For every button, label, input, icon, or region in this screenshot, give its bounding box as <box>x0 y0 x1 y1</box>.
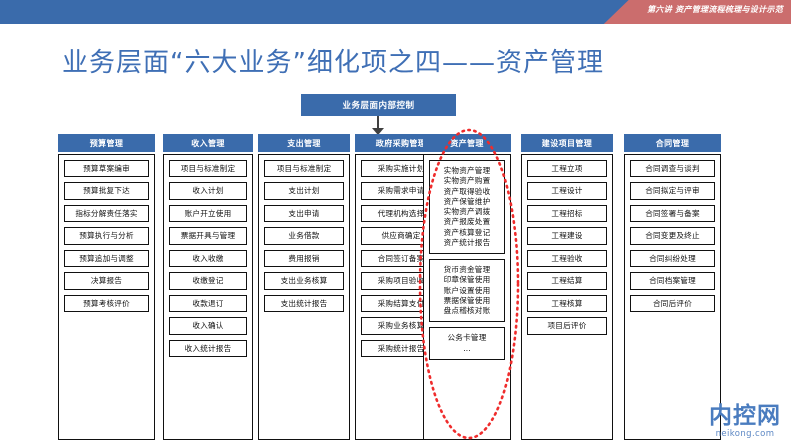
slide-canvas: 第六讲 资产管理流程梳理与设计示范 业务层面“六大业务”细化项之四——资产管理 … <box>0 0 791 445</box>
process-cell[interactable]: 支出计划 <box>264 182 344 199</box>
column-body: 预算草案编审 预算批复下达 指标分解责任落实 预算执行与分析 预算追加与调整 决… <box>58 154 155 440</box>
process-cell[interactable]: 工程结算 <box>527 272 607 289</box>
process-cell[interactable]: 费用报销 <box>264 250 344 267</box>
column-body: 合同调查与谈判 合同拟定与评审 合同签署与备案 合同变更及终止 合同纠纷处理 合… <box>624 154 721 440</box>
process-item: 资产统计报告 <box>433 238 501 248</box>
column-income: 收入管理 项目与标准制定 收入计划 账户开立使用 票据开具与管理 收入收缴 收缴… <box>163 134 253 440</box>
process-cell[interactable]: 合同纠纷处理 <box>630 250 715 267</box>
process-cell[interactable]: 工程招标 <box>527 205 607 222</box>
column-header: 建设项目管理 <box>521 134 613 152</box>
column-asset: 资产管理 实物资产管理 实物资产购置 资产取得验收 资产保管维护 实物资产调拨 … <box>423 134 511 440</box>
process-cell[interactable]: 项目与标准制定 <box>169 160 247 177</box>
process-cell[interactable]: 合同后评价 <box>630 295 715 312</box>
process-item: … <box>433 344 501 354</box>
process-item: 资产核算登记 <box>433 228 501 238</box>
process-cell[interactable]: 收入统计报告 <box>169 340 247 357</box>
process-cell[interactable]: 业务借款 <box>264 227 344 244</box>
process-item: 实物资产管理 <box>433 166 501 176</box>
column-body: 项目与标准制定 支出计划 支出申请 业务借款 费用报销 支出业务核算 支出统计报… <box>258 154 350 440</box>
process-item: 资产报废处置 <box>433 217 501 227</box>
column-expenditure: 支出管理 项目与标准制定 支出计划 支出申请 业务借款 费用报销 支出业务核算 … <box>258 134 350 440</box>
process-item: 货币资金管理 <box>433 265 501 275</box>
process-cell[interactable]: 支出业务核算 <box>264 272 344 289</box>
process-cell[interactable]: 预算考核评价 <box>64 295 149 312</box>
process-cell[interactable]: 票据开具与管理 <box>169 227 247 244</box>
process-item: 实物资产调拨 <box>433 207 501 217</box>
process-cell[interactable]: 合同档案管理 <box>630 272 715 289</box>
process-cell[interactable]: 工程核算 <box>527 295 607 312</box>
process-item: 公务卡管理 <box>433 333 501 343</box>
asset-group-monetary[interactable]: 货币资金管理 印章保管使用 账户设置使用 票据保管使用 盘点稽核对账 <box>429 259 505 322</box>
process-cell[interactable]: 合同签署与备案 <box>630 205 715 222</box>
top-banner: 第六讲 资产管理流程梳理与设计示范 <box>0 0 791 24</box>
process-cell[interactable]: 收入计划 <box>169 182 247 199</box>
process-cell[interactable]: 工程建设 <box>527 227 607 244</box>
process-cell[interactable]: 预算草案编审 <box>64 160 149 177</box>
top-node-label: 业务层面内部控制 <box>342 99 414 111</box>
process-cell[interactable]: 项目与标准制定 <box>264 160 344 177</box>
process-item: 账户设置使用 <box>433 286 501 296</box>
page-title: 业务层面“六大业务”细化项之四——资产管理 <box>62 42 604 79</box>
process-cell[interactable]: 合同拟定与评审 <box>630 182 715 199</box>
process-cell[interactable]: 收入收缴 <box>169 250 247 267</box>
process-cell[interactable]: 预算批复下达 <box>64 182 149 199</box>
asset-group-card[interactable]: 公务卡管理 … <box>429 327 505 360</box>
process-cell[interactable]: 工程设计 <box>527 182 607 199</box>
process-cell[interactable]: 预算追加与调整 <box>64 250 149 267</box>
watermark-logo-text: 内控网 <box>709 405 781 428</box>
process-item: 实物资产购置 <box>433 176 501 186</box>
column-body: 实物资产管理 实物资产购置 资产取得验收 资产保管维护 实物资产调拨 资产报废处… <box>423 154 511 440</box>
column-budget: 预算管理 预算草案编审 预算批复下达 指标分解责任落实 预算执行与分析 预算追加… <box>58 134 155 440</box>
process-cell[interactable]: 收款退订 <box>169 295 247 312</box>
process-item: 票据保管使用 <box>433 296 501 306</box>
watermark: 内控网 neikong.com <box>709 405 781 439</box>
column-body: 项目与标准制定 收入计划 账户开立使用 票据开具与管理 收入收缴 收缴登记 收款… <box>163 154 253 440</box>
column-contract: 合同管理 合同调查与谈判 合同拟定与评审 合同签署与备案 合同变更及终止 合同纠… <box>624 134 721 440</box>
process-item: 资产保管维护 <box>433 197 501 207</box>
process-cell[interactable]: 决算报告 <box>64 272 149 289</box>
process-cell[interactable]: 收缴登记 <box>169 272 247 289</box>
process-cell[interactable]: 指标分解责任落实 <box>64 205 149 222</box>
asset-group-physical[interactable]: 实物资产管理 实物资产购置 资产取得验收 资产保管维护 实物资产调拨 资产报废处… <box>429 160 505 254</box>
column-header: 预算管理 <box>58 134 155 152</box>
column-body: 工程立项 工程设计 工程招标 工程建设 工程验收 工程结算 工程核算 项目后评价 <box>521 154 613 440</box>
column-header: 合同管理 <box>624 134 721 152</box>
banner-blue-shape <box>0 0 700 24</box>
process-cell[interactable]: 支出申请 <box>264 205 344 222</box>
process-cell[interactable]: 账户开立使用 <box>169 205 247 222</box>
process-cell[interactable]: 支出统计报告 <box>264 295 344 312</box>
banner-title: 第六讲 资产管理流程梳理与设计示范 <box>647 4 783 15</box>
column-header: 收入管理 <box>163 134 253 152</box>
column-construction: 建设项目管理 工程立项 工程设计 工程招标 工程建设 工程验收 工程结算 工程核… <box>521 134 613 440</box>
process-item: 资产取得验收 <box>433 187 501 197</box>
process-cell[interactable]: 合同变更及终止 <box>630 227 715 244</box>
process-cell[interactable]: 合同调查与谈判 <box>630 160 715 177</box>
process-cell[interactable]: 工程立项 <box>527 160 607 177</box>
process-item: 盘点稽核对账 <box>433 306 501 316</box>
process-cell[interactable]: 预算执行与分析 <box>64 227 149 244</box>
process-item: 印章保管使用 <box>433 275 501 285</box>
column-header: 资产管理 <box>423 134 511 152</box>
process-cell[interactable]: 工程验收 <box>527 250 607 267</box>
process-cell[interactable]: 项目后评价 <box>527 317 607 334</box>
top-node-box: 业务层面内部控制 <box>301 94 456 116</box>
watermark-domain: neikong.com <box>709 429 781 439</box>
column-header: 支出管理 <box>258 134 350 152</box>
process-cell[interactable]: 收入确认 <box>169 317 247 334</box>
